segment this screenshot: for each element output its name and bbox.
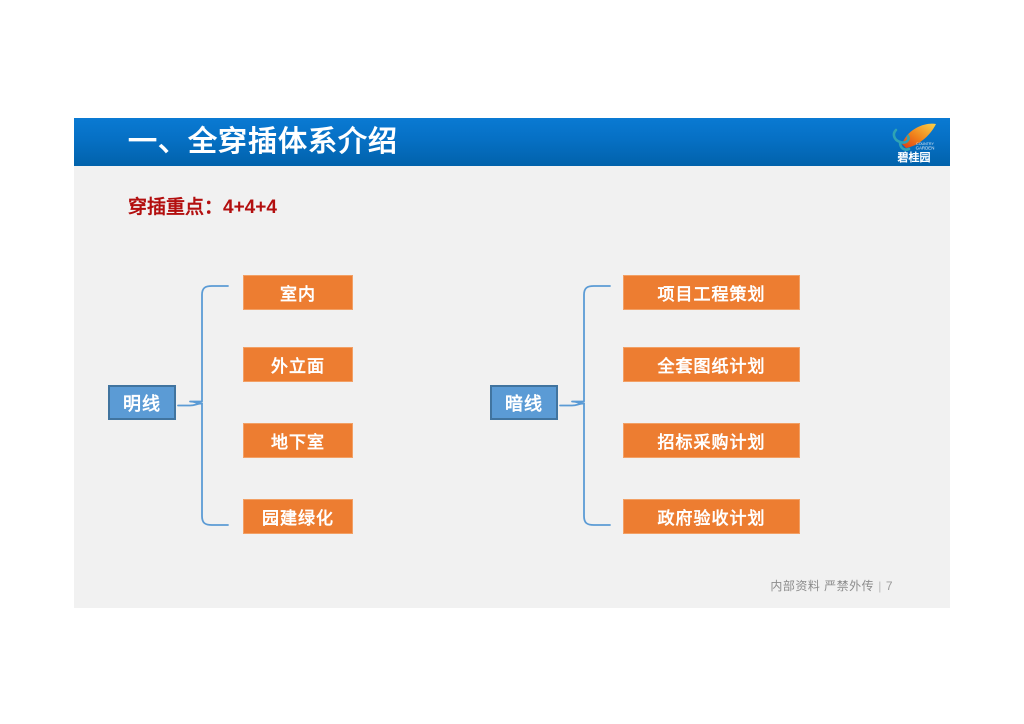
branch-item-dixiashi[interactable]: 地下室	[243, 423, 353, 458]
branch-root-mingxian[interactable]: 明线	[108, 385, 176, 420]
slide-footer: 内部资料 严禁外传|7	[770, 577, 893, 594]
branch-item-yuanjianlvhua[interactable]: 园建绿化	[243, 499, 353, 534]
logo-hook-shape	[894, 130, 909, 143]
page-number: 7	[886, 579, 893, 593]
brace-left-upper	[178, 286, 228, 406]
branch-root-anxian[interactable]: 暗线	[490, 385, 558, 420]
slide-canvas: 一、全穿插体系介绍 COUNTRY GARDEN 碧桂园	[74, 118, 950, 608]
branch-item-quantaotuzhijihua[interactable]: 全套图纸计划	[623, 347, 800, 382]
branch-item-wailimian[interactable]: 外立面	[243, 347, 353, 382]
brace-left-lower	[202, 404, 228, 526]
branch-item-shinei[interactable]: 室内	[243, 275, 353, 310]
brace-right-upper	[560, 286, 610, 406]
brace-connector-right	[558, 283, 618, 528]
country-garden-logo: COUNTRY GARDEN 碧桂园	[882, 118, 946, 166]
brace-connector-left	[176, 283, 236, 528]
confidential-notice: 内部资料 严禁外传	[770, 579, 874, 593]
section-subtitle: 穿插重点：4+4+4	[128, 192, 277, 219]
logo-en-bottom: GARDEN	[916, 145, 935, 150]
brace-right-lower	[584, 404, 610, 526]
footer-separator: |	[874, 579, 886, 593]
branch-item-zhengfuyanshoujihua[interactable]: 政府验收计划	[623, 499, 800, 534]
page-title: 一、全穿插体系介绍	[128, 125, 398, 159]
branch-item-zhaobiaocaigoujihua[interactable]: 招标采购计划	[623, 423, 800, 458]
branch-item-xiangmugongchengcehua[interactable]: 项目工程策划	[623, 275, 800, 310]
slide-header-bar: 一、全穿插体系介绍 COUNTRY GARDEN 碧桂园	[74, 118, 950, 166]
logo-brand-cn: 碧桂园	[897, 150, 931, 164]
